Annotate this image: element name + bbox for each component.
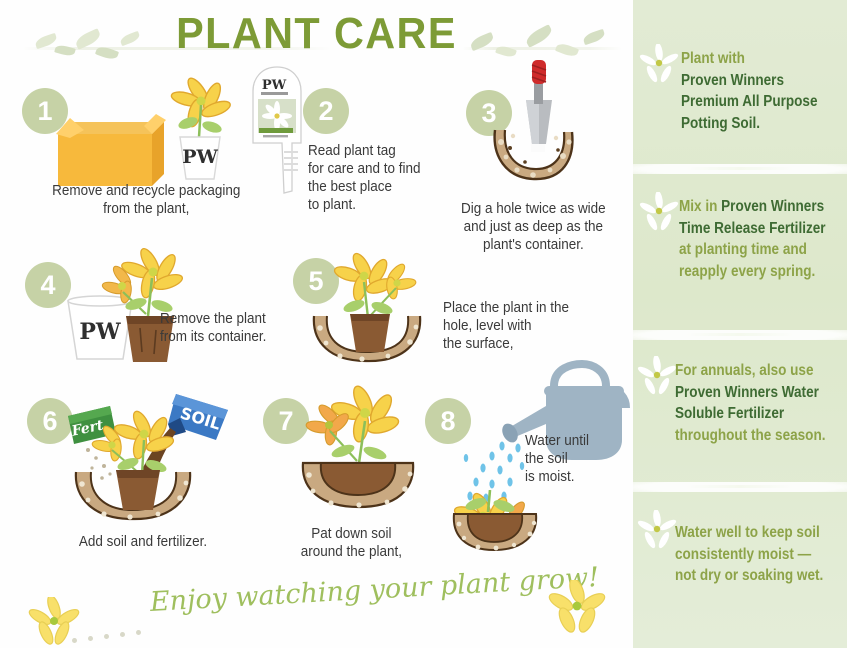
step-caption-line: from its container. bbox=[160, 328, 318, 346]
plant-care-infographic: PLANT CARE 1 bbox=[0, 0, 847, 648]
step-caption-line: from the plant, bbox=[30, 200, 263, 218]
step-caption-line: around the plant, bbox=[270, 543, 433, 561]
section-divider bbox=[633, 330, 847, 340]
step-number-badge: 2 bbox=[303, 88, 349, 134]
step-caption: Water until the soil is moist. bbox=[525, 432, 627, 486]
flower-bullet-icon bbox=[637, 356, 677, 396]
step-caption-line: for care and to find bbox=[308, 160, 448, 178]
tip-line-part-emph: Proven Winners bbox=[721, 198, 824, 215]
step-caption-line: the best place bbox=[308, 178, 448, 196]
step-caption-line: Remove the plant bbox=[160, 310, 318, 328]
steps-panel: PLANT CARE 1 bbox=[0, 0, 633, 648]
tip-text: Water well to keep soil consistently moi… bbox=[675, 522, 838, 587]
flower-bullet-icon bbox=[639, 44, 679, 84]
step-caption-line: plant's container. bbox=[445, 236, 622, 254]
root-ball-plant-icon bbox=[96, 248, 206, 366]
tip-line: reapply every spring. bbox=[679, 261, 837, 283]
tip-text: Mix in Proven Winners Time Release Ferti… bbox=[679, 196, 837, 282]
step-caption: Pat down soil around the plant, bbox=[270, 525, 433, 561]
step-caption-line: Place the plant in the bbox=[443, 299, 615, 317]
trowel-digging-hole-icon bbox=[470, 58, 620, 193]
step-caption-line: and just as deep as the bbox=[445, 218, 622, 236]
tip-line: Proven Winners Water bbox=[675, 382, 838, 404]
svg-text:PW: PW bbox=[262, 78, 287, 93]
tip-line: For annuals, also use bbox=[675, 360, 838, 382]
step-caption-line: to plant. bbox=[308, 196, 448, 214]
step-caption-line: hole, level with bbox=[443, 317, 615, 335]
step-caption: Dig a hole twice as wide and just as dee… bbox=[445, 200, 622, 254]
patted-soil-icon bbox=[285, 385, 435, 515]
step-caption: Read plant tag for care and to find the … bbox=[308, 142, 448, 214]
closing-banner: Enjoy watching your plant grow! bbox=[0, 575, 633, 648]
plant-tag-icon: PW bbox=[248, 65, 306, 195]
step-caption-line: the surface, bbox=[443, 335, 615, 353]
step-caption-line: is moist. bbox=[525, 468, 627, 486]
flower-bullet-icon bbox=[639, 192, 679, 232]
potted-plant-icon: PW bbox=[150, 75, 246, 185]
flower-bullet-icon bbox=[637, 510, 677, 550]
section-divider bbox=[633, 482, 847, 492]
tip-line: Mix in Proven Winners bbox=[679, 196, 837, 218]
step-caption-line: Read plant tag bbox=[308, 142, 448, 160]
banner-dot bbox=[120, 632, 125, 637]
step-caption-line: Water until bbox=[525, 432, 627, 450]
tip-line: Premium All Purpose bbox=[681, 91, 822, 113]
step-caption: Remove and recycle packaging from the pl… bbox=[30, 182, 263, 218]
tip-line: Plant with bbox=[681, 48, 822, 70]
step-caption-line: Add soil and fertilizer. bbox=[50, 533, 236, 551]
step-caption-line: the soil bbox=[525, 450, 627, 468]
step-caption-line: Pat down soil bbox=[270, 525, 433, 543]
svg-text:PW: PW bbox=[182, 146, 218, 168]
tip-line: Soluble Fertilizer bbox=[675, 403, 838, 425]
banner-dot bbox=[104, 634, 109, 639]
step-caption: Add soil and fertilizer. bbox=[50, 533, 236, 551]
tip-line-part: Mix in bbox=[679, 198, 721, 215]
step-caption: Remove the plant from its container. bbox=[160, 310, 318, 346]
add-soil-fertilizer-icon: Fert. SOIL bbox=[58, 388, 243, 528]
tip-line: consistently moist — bbox=[675, 544, 838, 566]
banner-dot bbox=[88, 636, 93, 641]
banner-dot bbox=[136, 630, 141, 635]
watered-plant-base-icon bbox=[448, 490, 578, 560]
tip-text: For annuals, also use Proven Winners Wat… bbox=[675, 360, 838, 446]
soil-bag-icon: SOIL bbox=[168, 394, 228, 440]
banner-text: Enjoy watching your plant grow! bbox=[149, 565, 550, 618]
section-divider bbox=[633, 164, 847, 174]
tip-line: Time Release Fertilizer bbox=[679, 218, 837, 240]
tip-line: Proven Winners bbox=[681, 70, 822, 92]
tip-line: throughout the season. bbox=[675, 425, 838, 447]
banner-dot bbox=[72, 638, 77, 643]
page-title: PLANT CARE bbox=[19, 12, 614, 56]
tip-line: at planting time and bbox=[679, 239, 837, 261]
tip-line: Water well to keep soil bbox=[675, 522, 838, 544]
tip-text: Plant with Proven Winners Premium All Pu… bbox=[681, 48, 822, 134]
tip-line: not dry or soaking wet. bbox=[675, 565, 838, 587]
step-caption: Place the plant in the hole, level with … bbox=[443, 299, 615, 353]
step-caption-line: Dig a hole twice as wide bbox=[445, 200, 622, 218]
flower-icon-right bbox=[543, 580, 611, 638]
tips-sidebar: Plant with Proven Winners Premium All Pu… bbox=[633, 0, 847, 648]
tip-line: Potting Soil. bbox=[681, 113, 822, 135]
step-caption-line: Remove and recycle packaging bbox=[30, 182, 263, 200]
